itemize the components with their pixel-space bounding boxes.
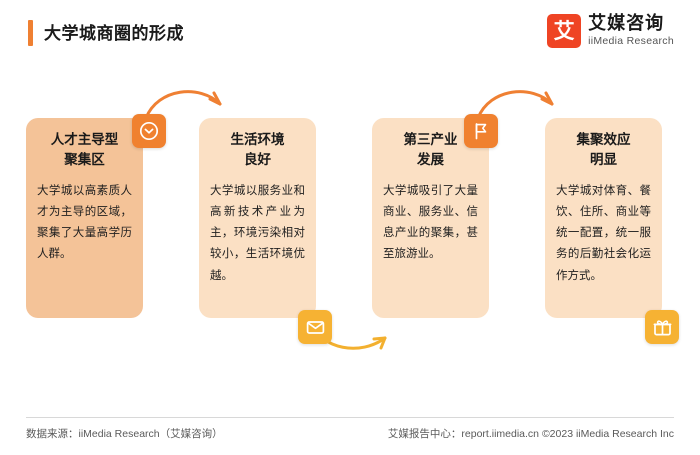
card-body: 大学城以高素质人才为主导的区域，聚集了大量高学历人群。 <box>37 181 132 266</box>
card-body: 大学城以服务业和高新技术产业为主，环境污染相对较小，生活环境优越。 <box>210 181 305 287</box>
footer-source: 数据来源：iiMedia Research（艾媒咨询） <box>26 426 223 441</box>
chevron-down-circle-icon <box>132 114 166 148</box>
chevron-down-circle-glyph <box>139 121 159 141</box>
card-living-environment[interactable]: 生活环境 良好 大学城以服务业和高新技术产业为主，环境污染相对较小，生活环境优越… <box>199 118 316 318</box>
page-header: 大学城商圈的形成 艾 艾媒咨询 iiMedia Research <box>0 0 700 68</box>
logo-text: 艾媒咨询 iiMedia Research <box>588 14 674 47</box>
footer-report-center: 艾媒报告中心：report.iimedia.cn ©2023 iiMedia R… <box>388 426 674 441</box>
card-agglomeration-effect[interactable]: 集聚效应 明显 大学城对体育、餐饮、住所、商业等统一配置，统一服务的后勤社会化运… <box>545 118 662 318</box>
footer-divider <box>26 417 674 418</box>
page-title: 大学城商圈的形成 <box>44 19 184 44</box>
logo-name-cn: 艾媒咨询 <box>588 14 674 34</box>
title-accent-bar <box>28 20 33 46</box>
gift-icon <box>645 310 679 344</box>
card-talent-cluster[interactable]: 人才主导型 聚集区 大学城以高素质人才为主导的区域，聚集了大量高学历人群。 <box>26 118 143 318</box>
logo-name-en: iiMedia Research <box>588 35 674 48</box>
card-title: 生活环境 良好 <box>210 130 305 171</box>
envelope-glyph <box>305 317 326 338</box>
brand-logo: 艾 艾媒咨询 iiMedia Research <box>547 14 674 48</box>
card-tertiary-industry[interactable]: 第三产业 发展 大学城吸引了大量商业、服务业、信息产业的聚集，甚至旅游业。 <box>372 118 489 318</box>
card-body: 大学城对体育、餐饮、住所、商业等统一配置，统一服务的后勤社会化运作方式。 <box>556 181 651 287</box>
flag-glyph <box>471 121 491 141</box>
card-title: 人才主导型 聚集区 <box>37 130 132 171</box>
logo-mark-icon: 艾 <box>547 14 581 48</box>
flag-icon <box>464 114 498 148</box>
gift-glyph <box>652 317 673 338</box>
envelope-icon <box>298 310 332 344</box>
card-title: 集聚效应 明显 <box>556 130 651 171</box>
card-body: 大学城吸引了大量商业、服务业、信息产业的聚集，甚至旅游业。 <box>383 181 478 266</box>
